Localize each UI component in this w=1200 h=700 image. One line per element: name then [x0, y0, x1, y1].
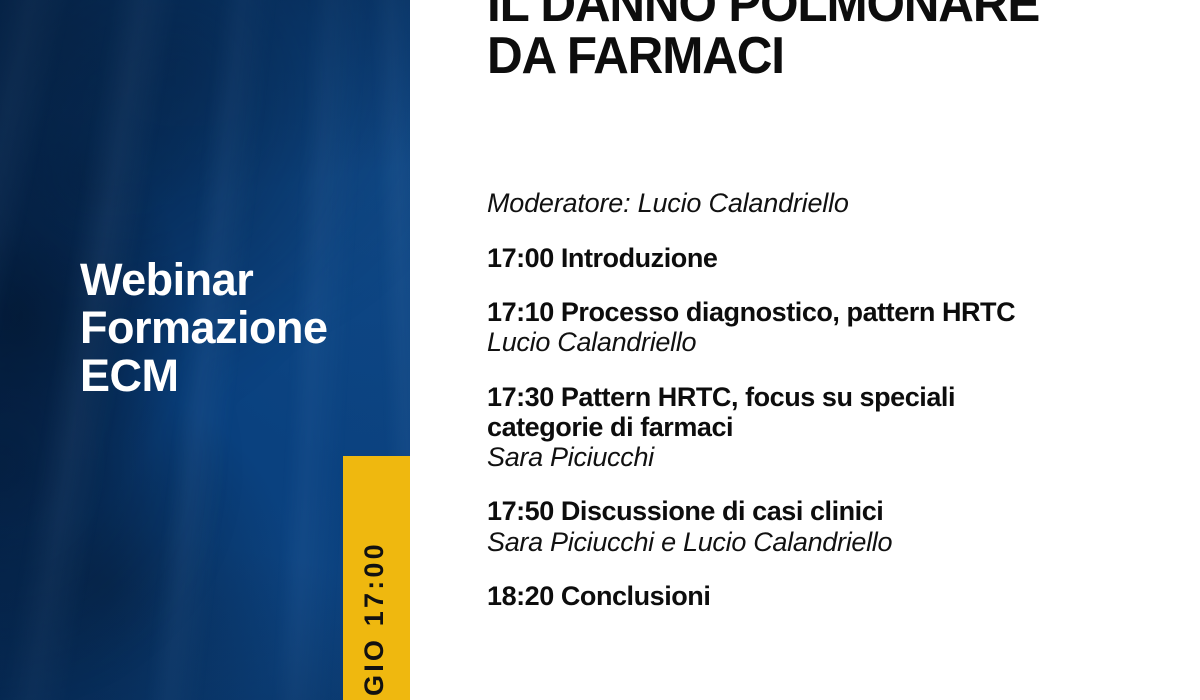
- page-title: IL DANNO POLMONARE DA FARMACI: [487, 0, 1143, 82]
- agenda-item: 17:50 Discussione di casi clinici Sara P…: [487, 496, 1177, 556]
- right-content-panel: IL DANNO POLMONARE DA FARMACI Moderatore…: [410, 0, 1200, 700]
- webinar-heading: Webinar Formazione ECM: [80, 256, 380, 400]
- page-title-line-2: DA FARMACI: [487, 30, 1143, 82]
- agenda-item-title-line: 17:30 Pattern HRTC, focus su speciali: [487, 382, 1177, 412]
- date-time-band: GIO 17:00: [343, 456, 410, 700]
- agenda-item-speaker: Sara Piciucchi e Lucio Calandriello: [487, 527, 1177, 557]
- agenda-item-speaker: Lucio Calandriello: [487, 327, 1177, 357]
- agenda-item-title-line: 17:00 Introduzione: [487, 243, 1177, 273]
- agenda-item: 18:20 Conclusioni: [487, 581, 1177, 611]
- webinar-poster: Webinar Formazione ECM GIO 17:00 IL DANN…: [0, 0, 1200, 700]
- webinar-heading-line-2: Formazione: [80, 304, 380, 352]
- agenda-item-title: 18:20 Conclusioni: [487, 581, 1177, 611]
- agenda-item-title: 17:30 Pattern HRTC, focus su speciali ca…: [487, 382, 1177, 442]
- agenda-item-speaker: Sara Piciucchi: [487, 442, 1177, 472]
- agenda-list: 17:00 Introduzione 17:10 Processo diagno…: [487, 243, 1177, 611]
- page-title-line-1: IL DANNO POLMONARE: [487, 0, 1143, 30]
- webinar-heading-line-1: Webinar: [80, 256, 380, 304]
- agenda-item-title: 17:00 Introduzione: [487, 243, 1177, 273]
- agenda-item-title-line: 18:20 Conclusioni: [487, 581, 1177, 611]
- agenda-item-title-line: 17:10 Processo diagnostico, pattern HRTC: [487, 297, 1177, 327]
- agenda-item-title: 17:50 Discussione di casi clinici: [487, 496, 1177, 526]
- agenda-item: 17:00 Introduzione: [487, 243, 1177, 273]
- webinar-heading-line-3: ECM: [80, 352, 380, 400]
- content-column: IL DANNO POLMONARE DA FARMACI Moderatore…: [487, 0, 1177, 611]
- agenda-item: 17:10 Processo diagnostico, pattern HRTC…: [487, 297, 1177, 357]
- agenda-item: 17:30 Pattern HRTC, focus su speciali ca…: [487, 382, 1177, 473]
- moderator-label: Moderatore: Lucio Calandriello: [487, 188, 1177, 219]
- agenda-item-title-line: categorie di farmaci: [487, 412, 1177, 442]
- agenda-item-title: 17:10 Processo diagnostico, pattern HRTC: [487, 297, 1177, 327]
- agenda-item-title-line: 17:50 Discussione di casi clinici: [487, 496, 1177, 526]
- date-time-label: GIO 17:00: [359, 541, 390, 696]
